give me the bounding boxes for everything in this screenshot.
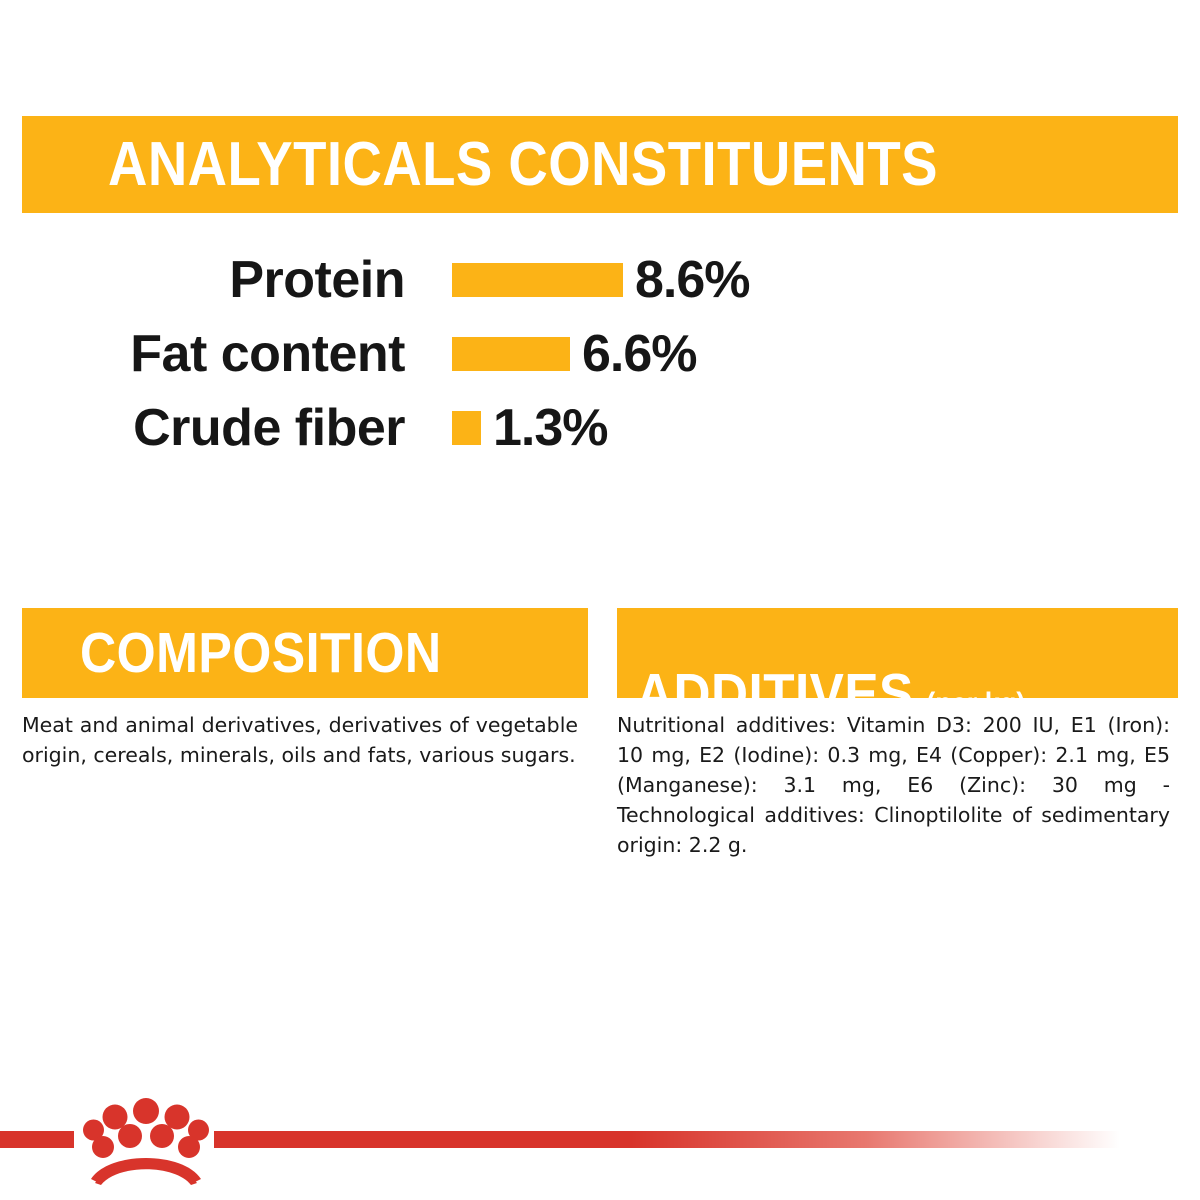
constituent-value-crude-fiber: 1.3% <box>493 402 608 454</box>
royal-canin-crown-icon <box>83 1095 209 1185</box>
constituent-value-fat-content: 6.6% <box>582 328 697 380</box>
composition-header: COMPOSITION <box>22 608 588 698</box>
constituent-row-protein: Protein 8.6% <box>0 243 1200 317</box>
footer-branding <box>0 1095 1200 1200</box>
constituent-bar-group-fat-content: 6.6% <box>452 328 697 380</box>
constituent-label-crude-fiber: Crude fiber <box>0 402 405 454</box>
constituent-value-protein: 8.6% <box>635 254 750 306</box>
additives-body-text: Nutritional additives: Vitamin D3: 200 I… <box>617 710 1170 860</box>
constituent-row-crude-fiber: Crude fiber 1.3% <box>0 391 1200 465</box>
analyticals-constituents-chart: Protein 8.6% Fat content 6.6% Crude fibe… <box>0 243 1200 465</box>
product-nutrition-panel: ANALYTICALS CONSTITUENTS Protein 8.6% Fa… <box>0 0 1200 1200</box>
footer-rule-left <box>0 1131 74 1148</box>
constituent-bar-group-protein: 8.6% <box>452 254 750 306</box>
additives-title: ADDITIVES <box>636 666 914 698</box>
additives-header: ADDITIVES (per kg) <box>617 608 1178 698</box>
constituent-label-fat-content: Fat content <box>0 328 405 380</box>
constituent-bar-crude-fiber <box>452 411 481 445</box>
analyticals-constituents-title: ANALYTICALS CONSTITUENTS <box>108 134 938 196</box>
additives-subtitle: (per kg) <box>926 689 1025 698</box>
constituent-bar-group-crude-fiber: 1.3% <box>452 402 608 454</box>
constituent-bar-fat-content <box>452 337 570 371</box>
composition-title: COMPOSITION <box>80 625 442 682</box>
analyticals-constituents-header: ANALYTICALS CONSTITUENTS <box>22 116 1178 213</box>
constituent-label-protein: Protein <box>0 254 405 306</box>
constituent-row-fat-content: Fat content 6.6% <box>0 317 1200 391</box>
constituent-bar-protein <box>452 263 623 297</box>
composition-body-text: Meat and animal derivatives, derivatives… <box>22 710 578 770</box>
footer-rule-right <box>214 1131 1120 1148</box>
